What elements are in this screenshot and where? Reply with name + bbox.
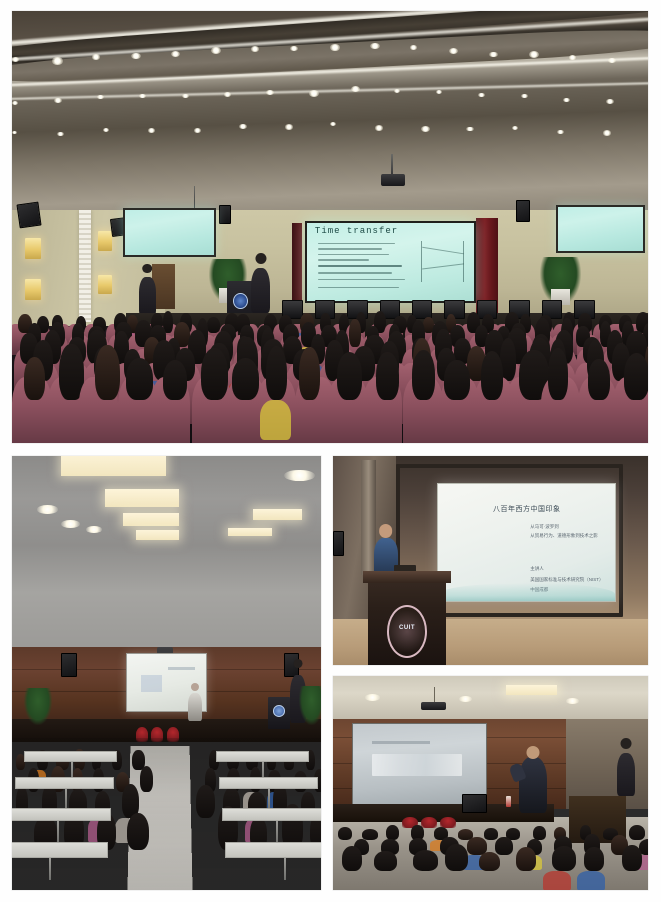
stage-monitor [542, 300, 562, 319]
podium-scene: 八百年西方中国印象 从马可·波罗到 从贸易行为、道德形象到技术之影 主讲人 美国… [333, 456, 648, 665]
wall-sconce [25, 238, 42, 260]
presenter-head [379, 524, 393, 538]
loudspeaker [462, 794, 487, 813]
student-desk [225, 842, 321, 858]
potted-plant [24, 688, 52, 725]
projector-mount [391, 154, 393, 176]
slide-text-line [318, 279, 405, 281]
ceiling-light-panel [105, 489, 179, 507]
ceiling-downlight [57, 132, 63, 136]
ceiling-light-panel [253, 509, 302, 521]
projection-screen: 八百年西方中国印象 从马可·波罗到 从贸易行为、道德形象到技术之影 主讲人 美国… [437, 483, 617, 602]
loudspeaker [219, 205, 231, 225]
stage-monitor [477, 300, 497, 319]
wall-sconce [25, 279, 42, 301]
ceiling-spotlight [284, 470, 315, 482]
ceiling-projector [421, 702, 446, 711]
ceiling-downlight [330, 44, 340, 50]
potted-plant [299, 686, 321, 725]
stage-monitor [282, 300, 302, 319]
lectern [569, 796, 626, 843]
auditorium-scene: Time transfer [12, 11, 648, 443]
side-projection-screen-right [556, 205, 645, 253]
standing-attendee [139, 277, 156, 315]
ceiling-downlight [224, 92, 231, 97]
slide-text-line [318, 259, 368, 261]
flower-pot [421, 817, 437, 828]
ceiling-downlight [211, 47, 221, 54]
stage-monitor [315, 300, 335, 319]
ceiling-downlight [103, 128, 109, 132]
potted-plant [540, 257, 581, 305]
flower-pot [402, 817, 418, 828]
student-desk [12, 842, 108, 858]
presenter-head [191, 683, 199, 691]
slide-text-line [318, 248, 382, 250]
photo-classroom-portrait [12, 456, 321, 890]
ceiling-downlight [290, 46, 298, 51]
desk-leg [49, 858, 51, 880]
ceiling-spotlight [459, 696, 472, 702]
room-ceiling [333, 676, 648, 719]
emblem-text: CUIT [391, 625, 423, 631]
student-desk [15, 777, 114, 789]
slide-text-line [318, 243, 395, 245]
ceiling-downlight [466, 127, 473, 132]
classroom-scene [12, 456, 321, 890]
ceiling-downlight [54, 98, 62, 103]
loudspeaker [61, 653, 76, 677]
ceiling-downlight [148, 128, 155, 133]
ceiling-light-band [12, 80, 648, 102]
attendee-head [620, 738, 631, 749]
stage-monitor [412, 300, 432, 319]
ceiling-downlight [521, 94, 528, 99]
slide-text-line [318, 254, 388, 256]
slide-wave-graphic [438, 583, 616, 602]
ceiling-downlight [563, 98, 570, 102]
photo-podium-presentation: 八百年西方中国印象 从马可·波罗到 从贸易行为、道德形象到技术之影 主讲人 美国… [333, 456, 648, 665]
loudspeaker [516, 200, 530, 222]
student-desk [216, 751, 309, 761]
attendee-head [143, 264, 153, 274]
slide-title: 八百年西方中国印象 [493, 504, 561, 514]
classroom-ceiling [12, 456, 321, 651]
wall-sconce [98, 231, 112, 251]
ceiling-downlight [12, 101, 18, 105]
ceiling-downlight [309, 90, 319, 97]
slide-subtitle-2: 从贸易行为、道德形象到技术之影 [530, 533, 598, 539]
student-desk [12, 808, 111, 822]
water-bottle [506, 796, 511, 807]
flower-pot [440, 817, 456, 828]
side-wall [566, 715, 648, 809]
ceiling-downlight [131, 53, 140, 59]
ceiling-downlight [606, 99, 614, 105]
ceiling-light-panel [136, 530, 179, 540]
stage-monitor [509, 300, 529, 319]
desk-leg [284, 858, 286, 880]
student-desk [219, 777, 318, 789]
ceiling-downlight [489, 52, 498, 58]
ceiling-downlight [569, 55, 576, 60]
ceiling-spotlight [86, 526, 101, 533]
auditorium-pillar [79, 210, 91, 322]
slide-title: Time transfer [315, 226, 398, 236]
ceiling-light-panel [61, 456, 166, 476]
loudspeaker [333, 531, 344, 556]
slide-diagram [421, 241, 465, 282]
ceiling-downlight [421, 126, 430, 132]
ceiling-downlight [557, 130, 564, 134]
lectern [268, 697, 290, 730]
ceiling-downlight [375, 125, 383, 130]
ceiling-downlight [182, 94, 189, 99]
slide-affiliation: 美国国家标准与技术研究院（NIST） [530, 577, 603, 583]
stage-monitor [347, 300, 367, 319]
ceiling-spotlight [61, 520, 80, 528]
lectern-emblem [233, 293, 248, 309]
ceiling-downlight [52, 57, 63, 64]
ceiling-light-panel [123, 513, 179, 527]
slide-subtitle-1: 从马可·波罗到 [530, 524, 559, 530]
stage-monitor [444, 300, 464, 319]
slide-text-line [318, 287, 399, 289]
ceiling-downlight [266, 90, 274, 95]
presenter [519, 757, 547, 813]
lectern-emblem: CUIT [391, 610, 423, 651]
slide-graphic [372, 754, 463, 776]
projector-mount [194, 186, 196, 210]
ceiling-downlight [285, 124, 293, 130]
lectern-emblem [273, 705, 285, 717]
ceiling-downlight [12, 131, 17, 134]
stage-monitor [380, 300, 400, 319]
photo-auditorium-wide: Time transfer [12, 11, 648, 443]
auditorium-ceiling [12, 11, 648, 210]
ceiling-light-panel [506, 685, 556, 694]
ceiling-downlight [330, 122, 336, 126]
ceiling-downlight [194, 128, 201, 133]
slide-graphic [141, 675, 161, 692]
side-projection-screen-left [123, 208, 215, 258]
ceiling-downlight [139, 94, 145, 98]
ceiling-downlight [12, 57, 19, 62]
ceiling-downlight [449, 48, 458, 54]
ceiling-downlight [478, 93, 485, 98]
slide-text-line [168, 667, 195, 670]
ceiling-spotlight [566, 698, 579, 704]
wall-sconce [98, 275, 112, 295]
slide-presenter: 主讲人 [530, 566, 544, 572]
ceiling-downlight [92, 54, 101, 60]
ceiling-downlight [239, 124, 247, 129]
presenter [188, 693, 202, 721]
ceiling-downlight [394, 89, 401, 93]
ceiling-downlight [436, 90, 442, 94]
photo-speaker-gesturing [333, 676, 648, 890]
collage-page: Time transfer [0, 0, 661, 902]
desk-leg [276, 821, 278, 843]
ceiling-projector [381, 174, 405, 185]
ceiling-downlight [370, 43, 380, 50]
slide-text-line [318, 272, 392, 274]
slide-text-line [318, 265, 402, 267]
speaker-scene [333, 676, 648, 890]
lectern-top [363, 571, 451, 583]
stage-monitor [574, 300, 594, 319]
student-desk [222, 808, 321, 822]
ceiling-downlight [603, 130, 612, 136]
lectern: CUIT [368, 571, 447, 665]
standing-attendee [617, 753, 636, 796]
student-desk [24, 751, 117, 761]
slide-text-line [372, 741, 431, 744]
ceiling-light-panel [228, 528, 271, 536]
ceiling-downlight [512, 126, 518, 130]
loudspeaker [17, 202, 42, 229]
main-projection-screen: Time transfer [305, 221, 477, 303]
presenter [251, 268, 270, 313]
desk-leg [57, 821, 59, 843]
ceiling-spotlight [365, 694, 381, 701]
ceiling-downlight [608, 58, 615, 63]
presenter-head [527, 746, 540, 759]
ceiling-spotlight [37, 505, 59, 514]
attendee-head [293, 659, 302, 668]
